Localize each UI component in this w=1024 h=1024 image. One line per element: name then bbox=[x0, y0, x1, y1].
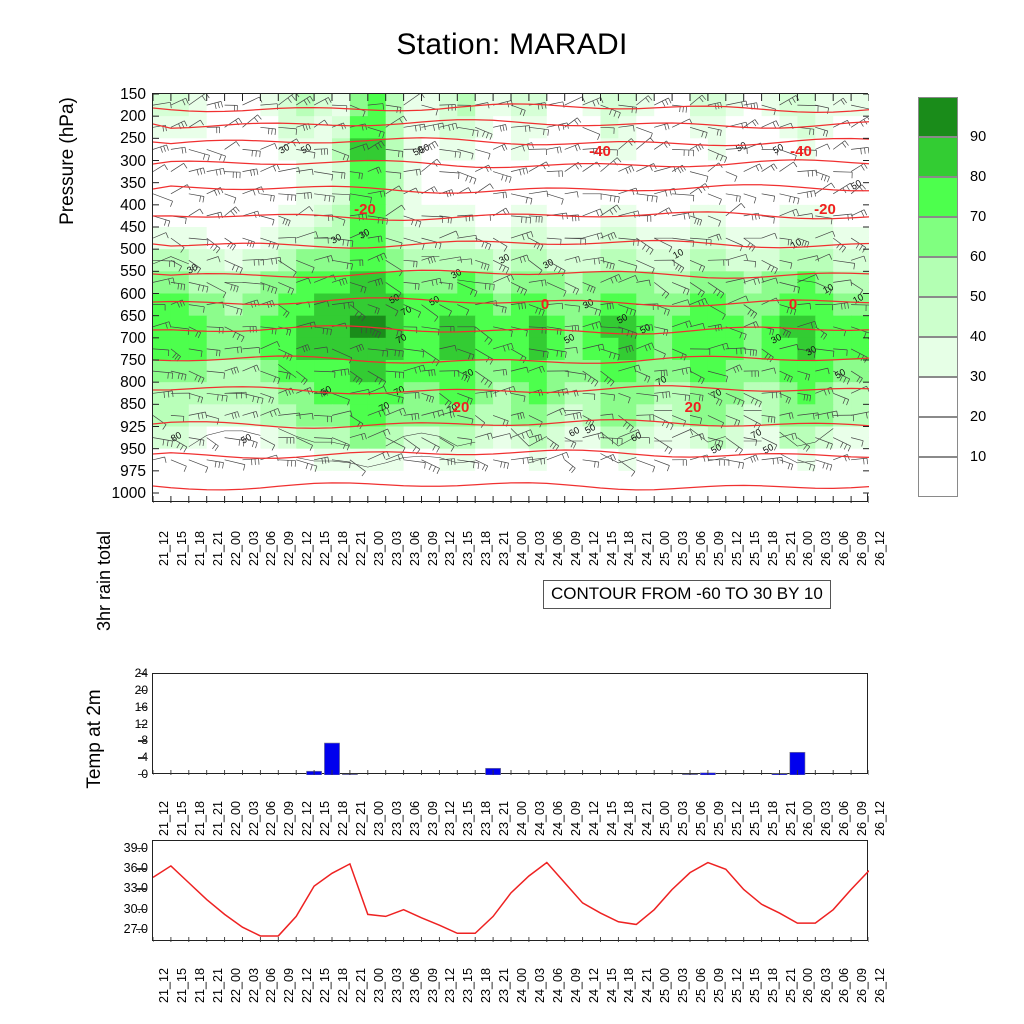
x-tick-label: 22_09 bbox=[282, 801, 296, 836]
x-tick-label: 23_18 bbox=[479, 531, 493, 566]
colorbar-bands bbox=[918, 97, 958, 497]
x-tick-label: 23_12 bbox=[443, 801, 457, 836]
x-tick-label: 25_21 bbox=[784, 801, 798, 836]
x-tick-label: 24_21 bbox=[640, 531, 654, 566]
colorbar-tick-label: 90 bbox=[970, 129, 986, 145]
x-tick-label: 26_03 bbox=[819, 801, 833, 836]
pressure-tick-label: 600 bbox=[60, 287, 146, 303]
x-tick-label: 26_06 bbox=[837, 968, 851, 1003]
x-tick-label: 24_06 bbox=[551, 531, 565, 566]
x-tick-label: 22_21 bbox=[354, 531, 368, 566]
colorbar-band bbox=[918, 377, 958, 417]
x-tick-label: 25_06 bbox=[694, 801, 708, 836]
svg-text:20: 20 bbox=[453, 399, 470, 416]
x-tick-label: 26_06 bbox=[837, 531, 851, 566]
x-tick-label: 22_03 bbox=[247, 801, 261, 836]
colorbar-tick-label: 40 bbox=[970, 329, 986, 345]
x-tick-label: 25_03 bbox=[676, 801, 690, 836]
temp-tick-mark bbox=[136, 868, 146, 869]
colorbar-band bbox=[918, 177, 958, 217]
colorbar-band bbox=[918, 257, 958, 297]
x-tick-label: 23_15 bbox=[461, 531, 475, 566]
x-tick-label: 22_15 bbox=[318, 531, 332, 566]
x-tick-label: 25_00 bbox=[658, 801, 672, 836]
temp-axis-ticks bbox=[153, 937, 869, 942]
pressure-tick-label: 800 bbox=[60, 375, 146, 391]
x-tick-label: 25_03 bbox=[676, 968, 690, 1003]
x-tick-label: 22_21 bbox=[354, 801, 368, 836]
colorbar-band bbox=[918, 217, 958, 257]
temp-tick-mark bbox=[136, 909, 146, 910]
x-tick-label: 24_03 bbox=[533, 801, 547, 836]
temp-x-axis-labels: 21_1221_1521_1821_2122_0022_0322_0622_09… bbox=[152, 945, 868, 1009]
x-tick-label: 24_15 bbox=[605, 801, 619, 836]
x-tick-label: 21_21 bbox=[211, 801, 225, 836]
pressure-tick-label: 400 bbox=[60, 198, 146, 214]
pressure-tick-label: 300 bbox=[60, 154, 146, 170]
x-tick-label: 22_00 bbox=[229, 531, 243, 566]
x-tick-label: 24_09 bbox=[569, 968, 583, 1003]
x-tick-label: 26_09 bbox=[855, 801, 869, 836]
x-tick-label: 23_00 bbox=[372, 801, 386, 836]
x-tick-label: 26_06 bbox=[837, 801, 851, 836]
x-tick-label: 25_15 bbox=[748, 531, 762, 566]
x-tick-label: 21_15 bbox=[175, 531, 189, 566]
x-tick-label: 22_12 bbox=[300, 801, 314, 836]
x-tick-label: 25_09 bbox=[712, 801, 726, 836]
x-tick-label: 22_00 bbox=[229, 801, 243, 836]
x-tick-label: 22_15 bbox=[318, 801, 332, 836]
pressure-tick-label: 925 bbox=[60, 420, 146, 436]
pressure-tick-label: 350 bbox=[60, 176, 146, 192]
x-tick-label: 25_09 bbox=[712, 531, 726, 566]
x-tick-label: 25_00 bbox=[658, 531, 672, 566]
x-tick-label: 26_12 bbox=[873, 801, 887, 836]
x-tick-label: 22_12 bbox=[300, 968, 314, 1003]
x-tick-label: 22_15 bbox=[318, 968, 332, 1003]
x-tick-label: 24_06 bbox=[551, 801, 565, 836]
x-tick-label: 23_12 bbox=[443, 968, 457, 1003]
temp-axis: Temp at 2m 39.036.033.030.027.0 bbox=[86, 833, 148, 949]
temp-plot[interactable] bbox=[152, 840, 868, 941]
x-tick-label: 21_15 bbox=[175, 801, 189, 836]
x-tick-label: 21_21 bbox=[211, 968, 225, 1003]
x-tick-label: 21_12 bbox=[157, 968, 171, 1003]
x-tick-label: 25_18 bbox=[766, 801, 780, 836]
colorbar-tick-label: 20 bbox=[970, 409, 986, 425]
x-tick-label: 23_09 bbox=[426, 531, 440, 566]
x-tick-label: 24_12 bbox=[587, 968, 601, 1003]
x-tick-label: 22_12 bbox=[300, 531, 314, 566]
rain-tick-mark bbox=[138, 757, 147, 758]
x-tick-label: 22_18 bbox=[336, 801, 350, 836]
x-tick-label: 22_06 bbox=[264, 531, 278, 566]
svg-text:-40: -40 bbox=[790, 143, 812, 160]
x-tick-label: 24_21 bbox=[640, 801, 654, 836]
x-tick-label: 25_12 bbox=[730, 968, 744, 1003]
pressure-tick-label: 450 bbox=[60, 220, 146, 236]
colorbar-band bbox=[918, 337, 958, 377]
x-tick-label: 22_18 bbox=[336, 531, 350, 566]
pressure-tick-label: 550 bbox=[60, 264, 146, 280]
pressure-axis: Pressure (hPa) 1502002503003504004505005… bbox=[60, 93, 146, 502]
x-tick-label: 23_03 bbox=[390, 531, 404, 566]
x-tick-label: 22_00 bbox=[229, 968, 243, 1003]
x-tick-label: 23_18 bbox=[479, 801, 493, 836]
x-tick-label: 24_00 bbox=[515, 531, 529, 566]
x-tick-label: 24_09 bbox=[569, 531, 583, 566]
rain-tick-mark bbox=[138, 673, 147, 674]
pressure-tick-label: 750 bbox=[60, 353, 146, 369]
x-tick-label: 21_18 bbox=[193, 968, 207, 1003]
x-tick-label: 23_21 bbox=[497, 531, 511, 566]
x-tick-label: 23_15 bbox=[461, 968, 475, 1003]
rain-bars bbox=[306, 743, 805, 775]
svg-text:20: 20 bbox=[685, 399, 702, 416]
rain-bars-svg bbox=[153, 674, 869, 775]
rain-tick-mark bbox=[138, 707, 147, 708]
x-tick-label: 21_21 bbox=[211, 531, 225, 566]
x-tick-label: 22_18 bbox=[336, 968, 350, 1003]
pressure-tick-label: 200 bbox=[60, 109, 146, 125]
rain-plot[interactable] bbox=[152, 673, 868, 774]
temp-tick-mark bbox=[136, 929, 146, 930]
x-tick-label: 24_03 bbox=[533, 968, 547, 1003]
x-tick-label: 25_15 bbox=[748, 968, 762, 1003]
pressure-tick-label: 500 bbox=[60, 242, 146, 258]
x-tick-label: 22_09 bbox=[282, 968, 296, 1003]
x-tick-label: 25_18 bbox=[766, 531, 780, 566]
x-tick-label: 24_15 bbox=[605, 968, 619, 1003]
x-tick-label: 24_00 bbox=[515, 968, 529, 1003]
x-tick-label: 26_09 bbox=[855, 968, 869, 1003]
pressure-tick-label: 150 bbox=[60, 87, 146, 103]
colorbar-band bbox=[918, 137, 958, 177]
svg-text:0: 0 bbox=[789, 296, 797, 313]
x-tick-label: 24_06 bbox=[551, 968, 565, 1003]
x-tick-label: 25_06 bbox=[694, 531, 708, 566]
x-tick-label: 23_03 bbox=[390, 801, 404, 836]
x-tick-label: 23_06 bbox=[408, 801, 422, 836]
svg-text:0: 0 bbox=[541, 296, 549, 313]
x-tick-label: 25_00 bbox=[658, 968, 672, 1003]
colorbar-tick-label: 30 bbox=[970, 369, 986, 385]
x-tick-label: 26_00 bbox=[801, 531, 815, 566]
time-height-plot[interactable]: 3030305050505070705030307070507070507070… bbox=[152, 93, 868, 502]
rain-tick-mark bbox=[138, 740, 147, 741]
x-tick-label: 23_18 bbox=[479, 968, 493, 1003]
colorbar-band bbox=[918, 297, 958, 337]
colorbar-tick-label: 80 bbox=[970, 169, 986, 185]
x-tick-label: 26_12 bbox=[873, 531, 887, 566]
x-tick-label: 25_12 bbox=[730, 801, 744, 836]
x-tick-label: 23_03 bbox=[390, 968, 404, 1003]
pressure-tick-label: 850 bbox=[60, 397, 146, 413]
x-tick-label: 24_21 bbox=[640, 968, 654, 1003]
colorbar-band bbox=[918, 457, 958, 497]
colorbar-band bbox=[918, 97, 958, 137]
temp-line-svg bbox=[153, 841, 869, 942]
x-tick-label: 25_18 bbox=[766, 968, 780, 1003]
x-tick-label: 22_06 bbox=[264, 801, 278, 836]
x-tick-label: 21_15 bbox=[175, 968, 189, 1003]
x-tick-label: 25_15 bbox=[748, 801, 762, 836]
rain-x-axis-labels: 21_1221_1521_1821_2122_0022_0322_0622_09… bbox=[152, 778, 868, 842]
svg-text:-20: -20 bbox=[814, 201, 836, 218]
x-tick-label: 21_18 bbox=[193, 531, 207, 566]
x-tick-label: 26_09 bbox=[855, 531, 869, 566]
main-x-axis-labels: 21_1221_1521_1821_2122_0022_0322_0622_09… bbox=[152, 508, 868, 572]
x-tick-label: 23_00 bbox=[372, 531, 386, 566]
x-tick-label: 22_21 bbox=[354, 968, 368, 1003]
pressure-tick-label: 650 bbox=[60, 309, 146, 325]
x-tick-label: 24_03 bbox=[533, 531, 547, 566]
x-tick-label: 23_09 bbox=[426, 968, 440, 1003]
colorbar-tick-label: 10 bbox=[970, 449, 986, 465]
x-tick-label: 26_03 bbox=[819, 531, 833, 566]
x-tick-label: 25_21 bbox=[784, 968, 798, 1003]
pressure-tick-label: 250 bbox=[60, 131, 146, 147]
rain-tick-mark bbox=[138, 774, 147, 775]
colorbar-tick-label: 70 bbox=[970, 209, 986, 225]
svg-text:-20: -20 bbox=[354, 201, 376, 218]
pressure-tick-label: 975 bbox=[60, 464, 146, 480]
x-tick-label: 25_21 bbox=[784, 531, 798, 566]
pressure-tick-label: 700 bbox=[60, 331, 146, 347]
x-tick-label: 23_15 bbox=[461, 801, 475, 836]
pressure-tick-label: 950 bbox=[60, 442, 146, 458]
x-tick-label: 23_00 bbox=[372, 968, 386, 1003]
x-tick-label: 26_12 bbox=[873, 968, 887, 1003]
rain-axis-ticks bbox=[153, 770, 869, 775]
x-tick-label: 21_12 bbox=[157, 531, 171, 566]
time-height-svg: 3030305050505070705030307070507070507070… bbox=[153, 94, 869, 503]
x-tick-label: 24_09 bbox=[569, 801, 583, 836]
x-tick-label: 23_06 bbox=[408, 531, 422, 566]
x-tick-label: 24_18 bbox=[622, 801, 636, 836]
x-tick-label: 24_18 bbox=[622, 968, 636, 1003]
x-tick-label: 21_12 bbox=[157, 801, 171, 836]
x-tick-label: 25_09 bbox=[712, 968, 726, 1003]
x-tick-label: 24_15 bbox=[605, 531, 619, 566]
x-tick-label: 22_03 bbox=[247, 531, 261, 566]
x-tick-label: 24_12 bbox=[587, 531, 601, 566]
colorbar-tick-label: 50 bbox=[970, 289, 986, 305]
x-tick-label: 21_18 bbox=[193, 801, 207, 836]
x-tick-label: 23_21 bbox=[497, 968, 511, 1003]
x-tick-label: 22_09 bbox=[282, 531, 296, 566]
colorbar-band bbox=[918, 417, 958, 457]
rain-tick-mark bbox=[138, 724, 147, 725]
x-tick-label: 23_21 bbox=[497, 801, 511, 836]
page-title: Station: MARADI bbox=[0, 28, 1024, 62]
temp-line bbox=[153, 863, 869, 936]
x-tick-label: 25_12 bbox=[730, 531, 744, 566]
x-tick-label: 22_03 bbox=[247, 968, 261, 1003]
temp-tick-mark bbox=[136, 848, 146, 849]
colorbar: 908070605040302010 bbox=[918, 97, 1018, 497]
x-tick-label: 22_06 bbox=[264, 968, 278, 1003]
x-tick-label: 26_00 bbox=[801, 801, 815, 836]
svg-text:-40: -40 bbox=[589, 143, 611, 160]
x-tick-label: 26_03 bbox=[819, 968, 833, 1003]
colorbar-tick-label: 60 bbox=[970, 249, 986, 265]
temp-tick-mark bbox=[136, 888, 146, 889]
x-tick-label: 23_06 bbox=[408, 968, 422, 1003]
x-tick-label: 25_03 bbox=[676, 531, 690, 566]
rain-tick-mark bbox=[138, 690, 147, 691]
temp-axis-label: Temp at 2m bbox=[84, 639, 106, 839]
x-tick-label: 25_06 bbox=[694, 968, 708, 1003]
x-tick-label: 24_00 bbox=[515, 801, 529, 836]
contour-legend-box: CONTOUR FROM -60 TO 30 BY 10 bbox=[543, 580, 831, 609]
x-tick-label: 24_12 bbox=[587, 801, 601, 836]
x-tick-label: 23_12 bbox=[443, 531, 457, 566]
x-tick-label: 26_00 bbox=[801, 968, 815, 1003]
x-tick-label: 24_18 bbox=[622, 531, 636, 566]
x-tick-label: 23_09 bbox=[426, 801, 440, 836]
